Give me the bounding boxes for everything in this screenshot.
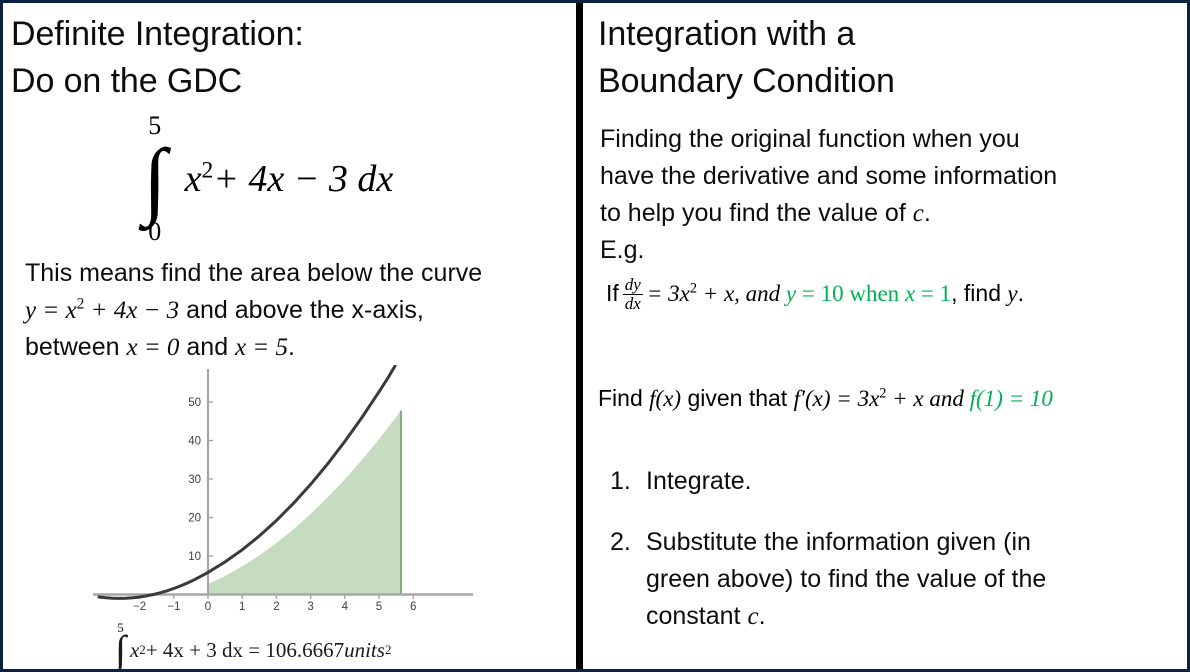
step-1-line-1: Integrate. [646,463,1182,500]
integral-sign: ∫ [143,133,167,225]
left-panel: Definite Integration: Do on the GDC 5 ∫ … [3,3,581,672]
result-lower-limit: 0 [117,666,124,672]
intro-line-3-period: . [924,199,931,227]
explanation-period: . [288,333,295,361]
step-2-constant-c: c [747,603,758,630]
area-under-curve-chart: 10 20 30 40 50 [83,365,483,610]
definite-integral-result: 5 ∫ 0 x2 + 4x + 3 dx = 106.6667 units2 [115,621,391,672]
step-2-line-1: Substitute the information given (in [646,524,1182,561]
left-title-line-1: Definite Integration: [11,11,581,58]
explanation-upper-bound: x = 5 [235,334,288,361]
eq1-green-x-value: = 1 [915,281,951,306]
shaded-area-region [208,410,401,594]
explanation-line-1: This means find the area below the curve [25,255,575,292]
integrand-exponent: 2 [201,157,213,183]
integral-lower-limit: 0 [148,219,161,245]
step-2-body: Substitute the information given (in gre… [646,524,1182,635]
eq1-prefix: If [606,280,619,307]
right-title-line-1: Integration with a [598,11,1190,58]
eq1-derivative-rest: + x, and [697,281,786,306]
integral-sign-group: 5 ∫ 0 [143,113,167,245]
svg-text:20: 20 [188,513,201,525]
eq1-find-label: , find [951,280,1007,306]
eq2-prefix: Find [598,385,649,411]
explanation-line-3: between x = 0 and x = 5. [25,329,575,366]
intro-line-3: to help you find the value of c. [600,195,1190,232]
intro-line-2: have the derivative and some information [600,158,1190,195]
svg-text:30: 30 [188,474,201,486]
integrand-expression: x2+ 4x − 3 dx [185,157,394,201]
eq2-f-prime: f′(x) [794,386,831,411]
result-expression-rest: + 4x + 3 dx = 106.6667 [146,638,344,663]
eq2-green-boundary-condition: f(1) = 10 [970,386,1053,411]
svg-text:2: 2 [273,601,279,610]
step-2-line-2: green above) to find the value of the [646,561,1182,598]
list-item: 2. Substitute the information given (in … [602,524,1182,635]
svg-text:5: 5 [376,601,382,610]
explanation-between-label: between [25,333,126,361]
explanation-and-label: and [179,333,235,361]
explanation-equals-x: = x [36,297,76,324]
fraction-numerator: dy [623,276,643,294]
step-2-line-3-period: . [759,602,766,630]
result-units-label: units [344,638,385,663]
explanation-line-2-tail: and above the x-axis, [179,296,424,324]
result-expression-variable: x [130,638,139,663]
svg-text:50: 50 [188,397,201,409]
explanation-paragraph: This means find the area below the curve… [25,255,575,366]
intro-line-1: Finding the original function when you [600,121,1190,158]
eq1-period: . [1018,280,1024,306]
explanation-y-symbol: y [25,297,36,324]
integrand-variable: x [185,158,202,200]
svg-text:40: 40 [188,436,201,448]
left-panel-title: Definite Integration: Do on the GDC [11,11,581,105]
intro-constant-c: c [913,200,924,227]
right-title-line-2: Boundary Condition [598,58,1190,105]
svg-text:0: 0 [205,601,211,610]
panel-divider [576,3,583,672]
eq2-derivative-rest: + x and [886,386,969,411]
integrand-remainder: + 4x − 3 dx [213,158,393,200]
eq1-derivative-exponent: 2 [690,280,697,296]
y-axis-tick-labels: 10 20 30 40 50 [188,397,201,563]
left-title-line-2: Do on the GDC [11,58,581,105]
step-2-line-3-text: constant [646,602,747,630]
eq2-fx: f(x) [649,386,681,411]
intro-line-3-text: to help you find the value of [600,199,913,227]
leibniz-example-equation: If dy dx = 3x2 + x, and y = 10 when x = … [606,275,1024,312]
svg-text:1: 1 [239,601,245,610]
eq1-derivative-expression: = 3x [647,281,690,306]
explanation-polynomial-rest: + 4x − 3 [84,297,179,324]
step-2-line-3: constant c. [646,598,1182,635]
right-panel: Integration with a Boundary Condition Fi… [586,3,1190,672]
function-notation-equation: Find f(x) given that f′(x) = 3x2 + x and… [598,385,1053,412]
step-2-number: 2. [602,524,646,635]
eq1-green-y: y [786,281,796,306]
intro-eg-label: E.g. [600,232,1190,269]
fraction-denominator: dx [623,294,643,313]
svg-text:3: 3 [307,601,313,610]
steps-list: 1. Integrate. 2. Substitute the informat… [602,463,1182,659]
list-item: 1. Integrate. [602,463,1182,500]
eq2-derivative-expression: = 3x [831,386,880,411]
definite-integral-expression: 5 ∫ 0 x2+ 4x − 3 dx [143,109,393,249]
eq2-middle: given that [681,385,794,411]
svg-text:4: 4 [342,601,349,610]
explanation-lower-bound: x = 0 [126,334,179,361]
eq1-green-x: x [905,281,915,306]
step-1-number: 1. [602,463,646,500]
eq1-find-target: y [1007,281,1017,306]
chart-svg: 10 20 30 40 50 [83,365,483,610]
step-1-body: Integrate. [646,463,1182,500]
svg-text:−2: −2 [133,601,146,610]
slide-container: Definite Integration: Do on the GDC 5 ∫ … [0,0,1190,672]
explanation-line-2: y = x2 + 4x − 3 and above the x-axis, [25,292,575,329]
dy-dx-fraction: dy dx [623,276,643,313]
x-axis-tick-labels: −2 −1 0 1 2 3 4 5 6 [133,601,416,610]
right-panel-title: Integration with a Boundary Condition [598,11,1190,105]
eq1-green-y-value: = 10 when [796,281,905,306]
eq1-body: = 3x2 + x, and y = 10 when x = 1, find y… [647,280,1024,307]
svg-text:6: 6 [410,601,416,610]
svg-text:10: 10 [188,551,201,563]
result-integral-sign-group: 5 ∫ 0 [115,621,126,672]
intro-paragraph: Finding the original function when you h… [600,121,1190,269]
svg-text:−1: −1 [167,601,180,610]
